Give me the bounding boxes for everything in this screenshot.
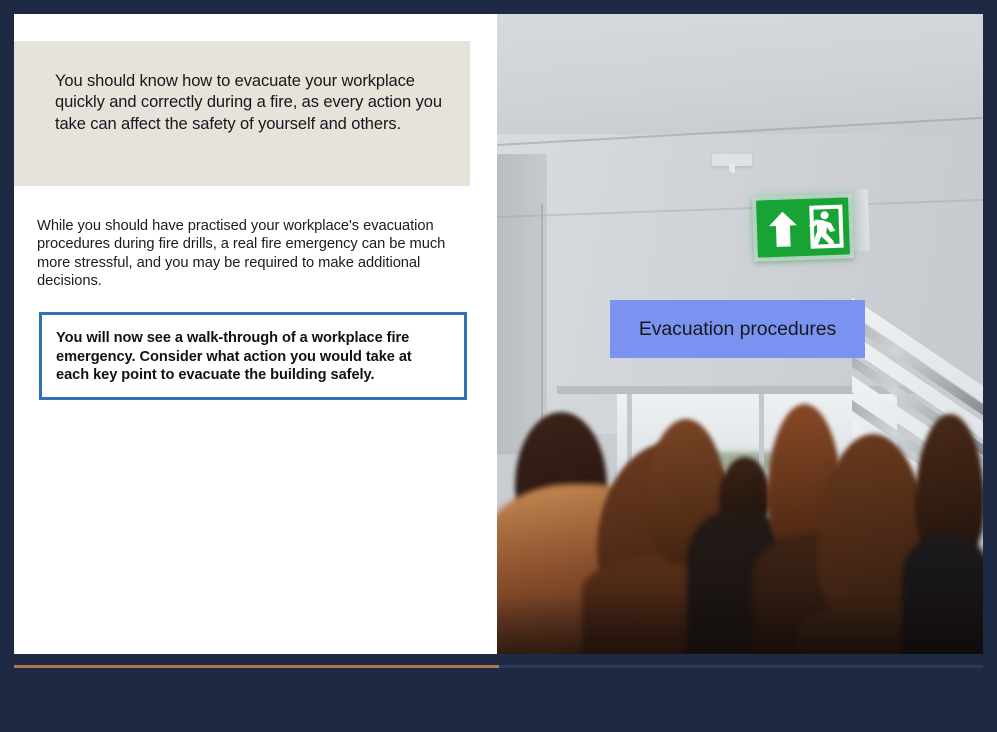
exit-sign-bracket (852, 189, 870, 252)
photo-bottom-shadow (497, 594, 983, 654)
slide-image: Evacuation procedures (497, 14, 983, 654)
image-caption-text: Evacuation procedures (639, 318, 836, 341)
instruction-text: You will now see a walk-through of a wor… (56, 329, 448, 385)
exit-sign-pictogram-icon (756, 197, 850, 257)
instruction-callout-box: You will now see a walk-through of a wor… (39, 312, 467, 400)
highlight-text: You should know how to evacuate your wor… (55, 71, 450, 135)
photo-wall-left (497, 154, 547, 454)
emergency-exit-sign (756, 197, 850, 257)
slide-text-panel: You should know how to evacuate your wor… (14, 14, 497, 654)
highlight-callout-box: You should know how to evacuate your wor… (14, 41, 470, 186)
photo-wall-corner (541, 204, 543, 444)
slide-stage: You should know how to evacuate your wor… (14, 14, 983, 654)
body-paragraph: While you should have practised your wor… (37, 217, 477, 291)
course-player: You should know how to evacuate your wor… (0, 0, 997, 732)
player-footer: Page 12 of 24 | 50% Completed ‹ Prev Nex… (0, 668, 997, 732)
image-caption-banner: Evacuation procedures (610, 300, 865, 358)
